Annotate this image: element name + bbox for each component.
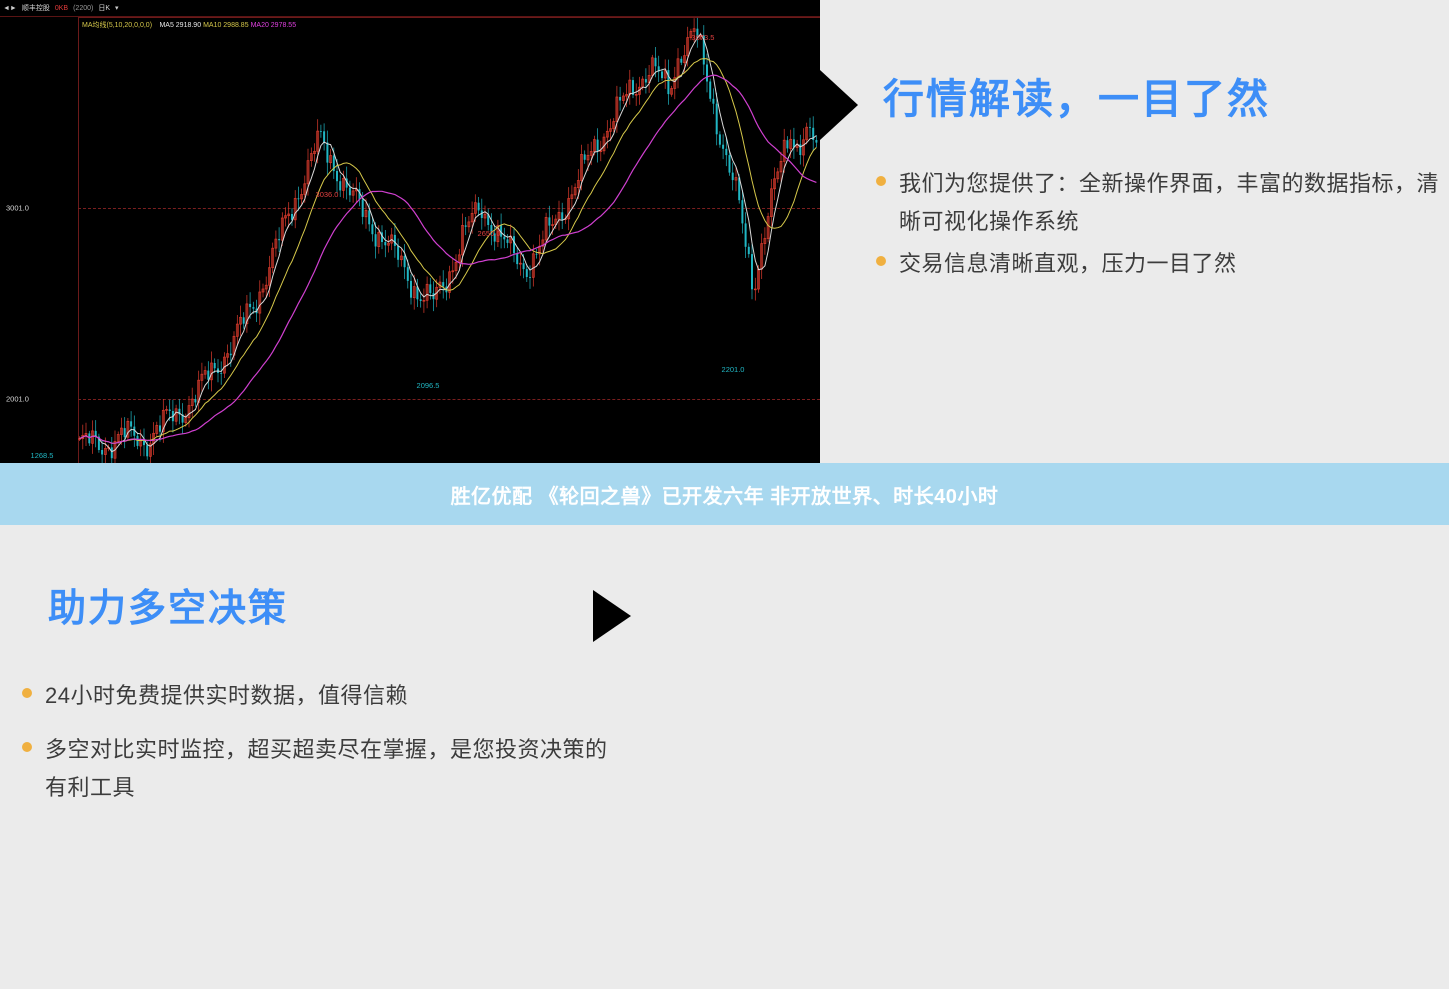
bullet-item: 多空对比实时监控，超买超卖尽在掌握，是您投资决策的有利工具 bbox=[22, 731, 622, 807]
top-section: ◄► 顺丰控股 0KB (2200) 日K ▾ MA均线(5,10,20,0,0… bbox=[0, 0, 1449, 463]
bullet-text: 多空对比实时监控，超买超卖尽在掌握，是您投资决策的有利工具 bbox=[45, 731, 622, 807]
kline-annotation-high1: 3036.0 bbox=[316, 190, 339, 199]
kline-annotation-peak: 3673.5 bbox=[692, 33, 715, 42]
kline-annotation-low1: 2096.5 bbox=[417, 381, 440, 390]
bullet-text: 24小时免费提供实时数据，值得信赖 bbox=[45, 677, 408, 715]
ma-indicator-label[interactable]: MA均线(5,10,20,0,0,0) bbox=[82, 22, 152, 29]
chevron-down-icon[interactable]: ▾ bbox=[154, 22, 158, 29]
bullet-item: 我们为您提供了：全新操作界面，丰富的数据指标，清晰可视化操作系统 bbox=[876, 165, 1449, 241]
bottom-section: 助力多空决策 24小时免费提供实时数据，值得信赖 多空对比实时监控，超买超卖尽在… bbox=[0, 525, 1449, 989]
bullet-dot-icon bbox=[22, 742, 32, 752]
kline-annotation-low3: 1268.5 bbox=[31, 451, 54, 460]
ma5-value: MA5 2918.90 bbox=[159, 22, 201, 29]
top-text-block: 行情解读，一目了然 我们为您提供了：全新操作界面，丰富的数据指标，清晰可视化操作… bbox=[876, 0, 1449, 463]
banner-text: 胜亿优配 《轮回之兽》已开发六年 非开放世界、时长40小时 bbox=[451, 480, 999, 509]
kline-annotation-low2: 2201.0 bbox=[722, 365, 745, 374]
kline-candlesticks bbox=[0, 0, 820, 463]
bullet-item: 24小时免费提供实时数据，值得信赖 bbox=[22, 677, 622, 715]
promo-banner[interactable]: 胜亿优配 《轮回之兽》已开发六年 非开放世界、时长40小时 bbox=[0, 463, 1449, 525]
bullet-dot-icon bbox=[876, 256, 886, 266]
bullet-text: 交易信息清晰直观，压力一目了然 bbox=[899, 245, 1237, 283]
top-bullet-list: 我们为您提供了：全新操作界面，丰富的数据指标，清晰可视化操作系统 交易信息清晰直… bbox=[876, 165, 1449, 282]
bullet-dot-icon bbox=[22, 688, 32, 698]
bottom-text-block: 助力多空决策 24小时免费提供实时数据，值得信赖 多空对比实时监控，超买超卖尽在… bbox=[0, 525, 620, 989]
bullet-text: 我们为您提供了：全新操作界面，丰富的数据指标，清晰可视化操作系统 bbox=[899, 165, 1449, 241]
top-headline: 行情解读，一目了然 bbox=[883, 65, 1270, 125]
kline-ma-legend: MA均线(5,10,20,0,0,0) ▾ MA5 2918.90 MA10 2… bbox=[82, 20, 296, 30]
kline-chart-panel[interactable]: ◄► 顺丰控股 0KB (2200) 日K ▾ MA均线(5,10,20,0,0… bbox=[0, 0, 820, 463]
bottom-bullet-list: 24小时免费提供实时数据，值得信赖 多空对比实时监控，超买超卖尽在掌握，是您投资… bbox=[22, 677, 622, 806]
bullet-dot-icon bbox=[876, 176, 886, 186]
bullet-item: 交易信息清晰直观，压力一目了然 bbox=[876, 245, 1449, 283]
callout-pointer-bottom bbox=[593, 590, 631, 642]
ma20-value: MA20 2978.55 bbox=[251, 22, 297, 29]
ma10-value: MA10 2988.85 bbox=[203, 22, 249, 29]
callout-pointer-top bbox=[820, 70, 858, 140]
kline-annotation-high2: 2650.0 bbox=[478, 229, 501, 238]
bottom-headline: 助力多空决策 bbox=[48, 577, 288, 632]
